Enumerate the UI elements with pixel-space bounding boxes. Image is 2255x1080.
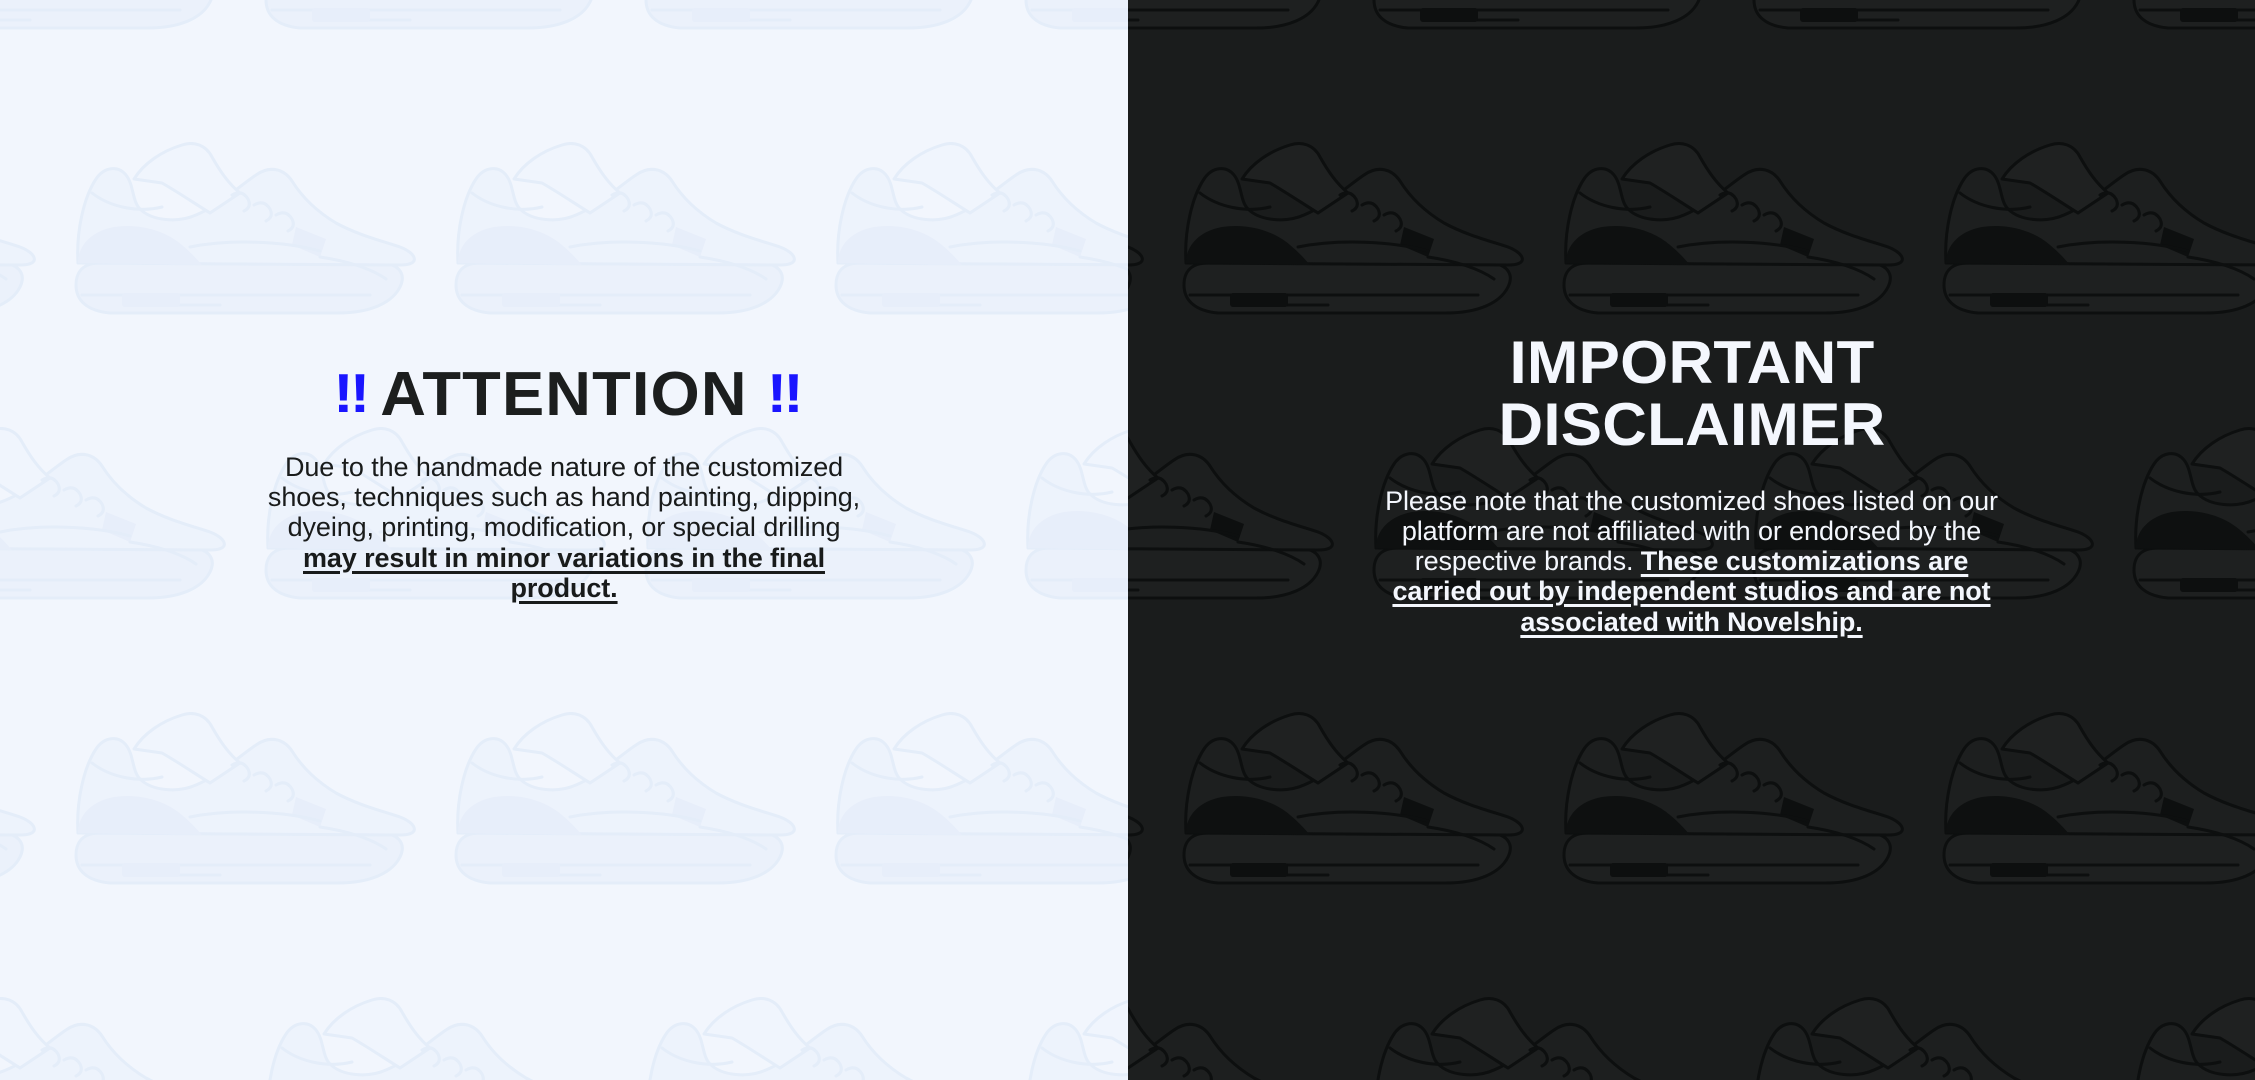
attention-body-plain: Due to the handmade nature of the custom… — [268, 452, 860, 542]
attention-content: ‼ ATTENTION ‼ Due to the handmade nature… — [0, 364, 1128, 603]
disclaimer-body: Please note that the customized shoes li… — [1382, 486, 2002, 637]
double-exclamation-icon-left: ‼ — [333, 366, 361, 420]
attention-heading: ‼ ATTENTION ‼ — [0, 364, 1128, 426]
double-exclamation-icon-right: ‼ — [767, 366, 795, 420]
disclaimer-content: IMPORTANT DISCLAIMER Please note that th… — [1128, 332, 2255, 637]
attention-panel: ‼ ATTENTION ‼ Due to the handmade nature… — [0, 0, 1128, 1080]
disclaimer-heading-line-1: IMPORTANT — [1509, 329, 1874, 396]
attention-body-emphasis: may result in minor variations in the fi… — [303, 543, 825, 603]
split-banner: ‼ ATTENTION ‼ Due to the handmade nature… — [0, 0, 2255, 1080]
disclaimer-panel: IMPORTANT DISCLAIMER Please note that th… — [1128, 0, 2255, 1080]
disclaimer-heading: IMPORTANT DISCLAIMER — [1331, 332, 2052, 456]
disclaimer-heading-line-2: DISCLAIMER — [1498, 391, 1885, 458]
attention-body: Due to the handmade nature of the custom… — [264, 452, 864, 603]
attention-heading-text: ATTENTION — [380, 364, 747, 426]
